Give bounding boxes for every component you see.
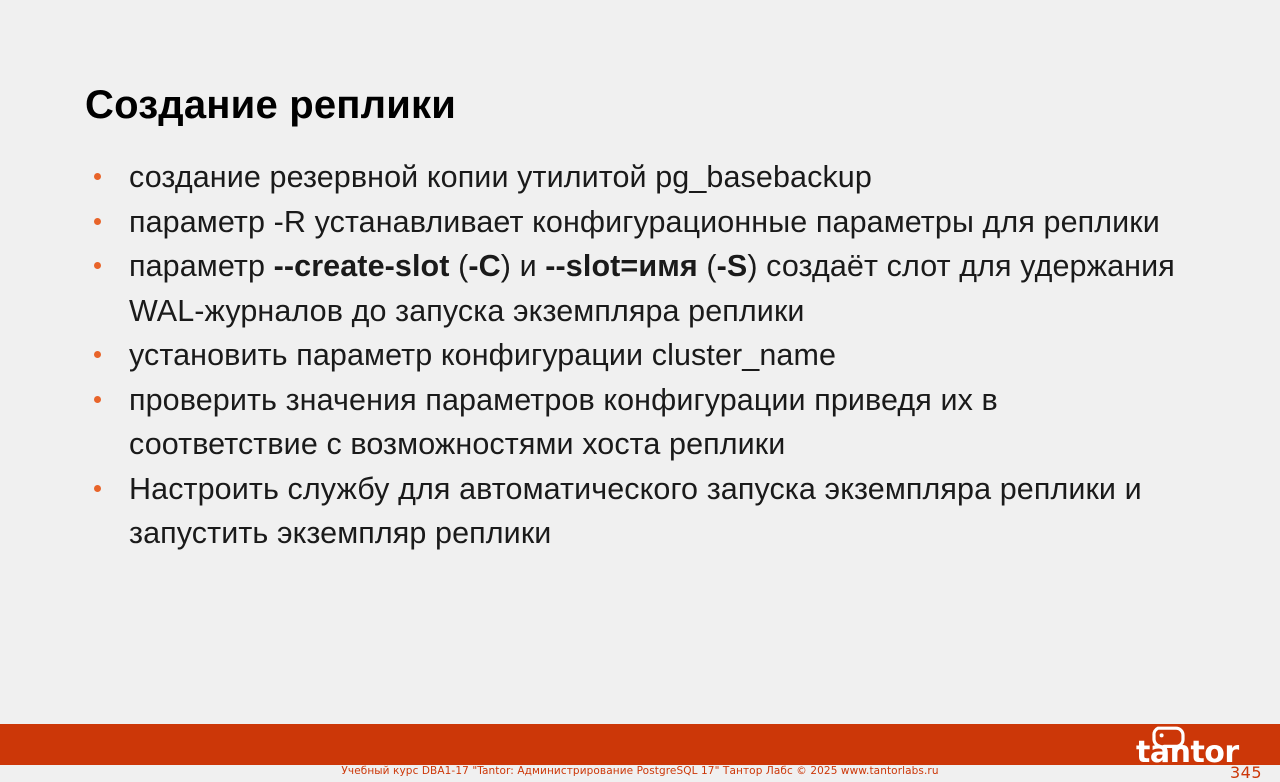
text-run: Настроить службу для автоматического зап… (129, 472, 1142, 551)
emphasis-run: --create-slot (274, 249, 450, 283)
emphasis-run: --slot=имя (545, 249, 697, 283)
list-item: установить параметр конфигурации cluster… (85, 333, 1195, 378)
text-run: ( (698, 249, 717, 283)
list-item-label: параметр --create-slot (-C) и --slot=имя… (129, 249, 1175, 328)
list-item-label: установить параметр конфигурации cluster… (129, 338, 836, 372)
emphasis-run: -C (468, 249, 500, 283)
text-run: установить параметр конфигурации cluster… (129, 338, 836, 372)
text-run: проверить значения параметров конфигурац… (129, 383, 998, 462)
list-item: проверить значения параметров конфигурац… (85, 378, 1195, 467)
text-run: создание резервной копии утилитой pg_bas… (129, 160, 872, 194)
text-run: ) и (501, 249, 546, 283)
tantor-logo: tantor (1136, 726, 1256, 764)
bullet-list: создание резервной копии утилитой pg_bas… (85, 155, 1195, 556)
bullet-dot-icon (94, 396, 101, 403)
list-item: создание резервной копии утилитой pg_bas… (85, 155, 1195, 200)
list-item: параметр -R устанавливает конфигурационн… (85, 200, 1195, 245)
page-number: 345 (1230, 763, 1262, 782)
bullet-dot-icon (94, 218, 101, 225)
bullet-dot-icon (94, 351, 101, 358)
list-item-label: проверить значения параметров конфигурац… (129, 383, 998, 462)
footer-copyright-note: Учебный курс DBA1-17 "Tantor: Администри… (0, 765, 1280, 777)
bullet-dot-icon (94, 173, 101, 180)
list-item-label: Настроить службу для автоматического зап… (129, 472, 1142, 551)
slide-root: Создание реплики создание резервной копи… (0, 0, 1280, 781)
tantor-logo-text: tantor (1136, 738, 1239, 768)
list-item-label: параметр -R устанавливает конфигурационн… (129, 205, 1160, 239)
list-item-label: создание резервной копии утилитой pg_bas… (129, 160, 872, 194)
footer-bar (0, 724, 1280, 765)
text-run: параметр -R устанавливает конфигурационн… (129, 205, 1160, 239)
bullet-dot-icon (94, 485, 101, 492)
list-item: Настроить службу для автоматического зап… (85, 467, 1195, 556)
emphasis-run: -S (717, 249, 748, 283)
bullet-dot-icon (94, 262, 101, 269)
text-run: параметр (129, 249, 274, 283)
list-item: параметр --create-slot (-C) и --slot=имя… (85, 244, 1195, 333)
page-title: Создание реплики (85, 82, 456, 128)
text-run: ( (450, 249, 469, 283)
